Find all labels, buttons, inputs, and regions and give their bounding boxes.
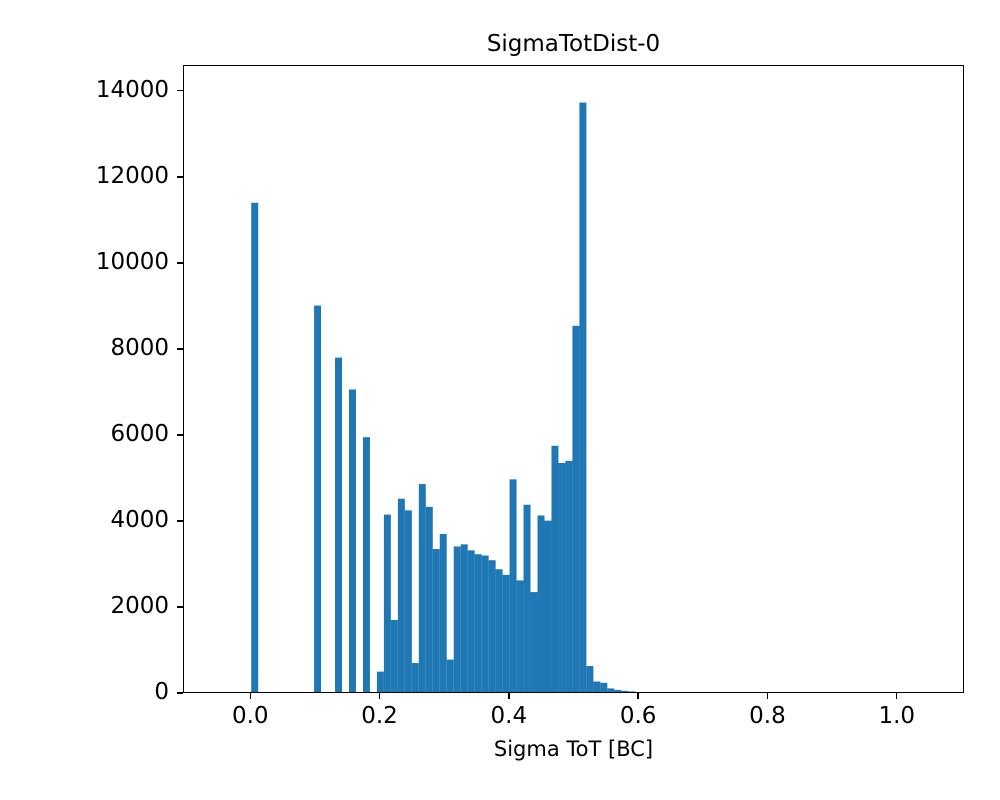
x-tick-label: 0.2 — [320, 701, 440, 731]
x-tick-label: 0.4 — [449, 701, 569, 731]
histogram-bar — [600, 683, 607, 692]
histogram-bar — [461, 544, 468, 692]
histogram-bar — [510, 479, 517, 692]
histogram-bar — [586, 666, 593, 692]
histogram-bar — [628, 691, 635, 692]
x-tick-label: 0.8 — [707, 701, 827, 731]
x-tick-mark — [379, 693, 380, 699]
y-tick-mark — [177, 692, 183, 693]
histogram-bar — [349, 389, 356, 692]
histogram-bar — [538, 515, 545, 692]
x-tick-label: 1.0 — [837, 701, 957, 731]
y-tick-label: 2000 — [19, 595, 169, 618]
x-axis-label: Sigma ToT [BC] — [183, 736, 964, 762]
y-tick-label: 14000 — [19, 79, 169, 102]
histogram-bar — [503, 575, 510, 692]
histogram-bar — [363, 437, 370, 692]
y-tick-mark — [177, 262, 183, 263]
y-tick-label: 4000 — [19, 509, 169, 532]
y-tick-label: 0 — [19, 681, 169, 704]
histogram-bar — [377, 672, 384, 692]
y-tick-label: 8000 — [19, 337, 169, 360]
histogram-bar — [335, 358, 342, 692]
histogram-bars — [184, 66, 963, 692]
page-title: SigmaTotDist-0 — [183, 30, 964, 58]
histogram-bar — [433, 549, 440, 692]
histogram-bar — [440, 534, 447, 692]
y-tick-label: 10000 — [19, 251, 169, 274]
histogram-bar — [593, 682, 600, 692]
histogram-bar — [558, 463, 565, 692]
histogram-bar — [579, 103, 586, 692]
histogram-bar — [384, 515, 391, 692]
y-tick-mark — [177, 520, 183, 521]
histogram-bar — [426, 507, 433, 692]
histogram-bar — [447, 660, 454, 692]
histogram-bar — [531, 592, 538, 692]
histogram-bar — [419, 484, 426, 692]
histogram-bar — [607, 688, 614, 692]
x-tick-mark — [508, 693, 509, 699]
histogram-bar — [524, 505, 531, 692]
histogram-bar — [251, 203, 258, 692]
y-tick-mark — [177, 348, 183, 349]
x-tick-label: 0.6 — [578, 701, 698, 731]
histogram-bar — [572, 326, 579, 692]
histogram-bar — [621, 691, 628, 692]
y-tick-mark — [177, 606, 183, 607]
x-tick-mark — [767, 693, 768, 699]
histogram-bar — [391, 620, 398, 692]
y-tick-label: 6000 — [19, 423, 169, 446]
histogram-bar — [517, 580, 524, 692]
matplotlib-figure: SigmaTotDist-0 0.00.20.40.60.81.0 020004… — [0, 0, 1000, 800]
histogram-bar — [475, 554, 482, 692]
histogram-bar — [565, 461, 572, 692]
histogram-bar — [398, 499, 405, 692]
y-tick-mark — [177, 434, 183, 435]
histogram-bar — [614, 690, 621, 692]
histogram-bar — [314, 306, 321, 692]
histogram-bar — [405, 510, 412, 692]
y-tick-mark — [177, 176, 183, 177]
histogram-bar — [468, 550, 475, 692]
y-tick-mark — [177, 90, 183, 91]
y-tick-label: 12000 — [19, 165, 169, 188]
histogram-bar — [489, 560, 496, 692]
histogram-bar — [545, 521, 552, 692]
x-tick-label: 0.0 — [190, 701, 310, 731]
histogram-bar — [482, 556, 489, 693]
histogram-plot-area — [184, 66, 963, 692]
x-tick-mark — [896, 693, 897, 699]
histogram-bar — [412, 663, 419, 692]
histogram-bar — [454, 546, 461, 692]
histogram-bar — [496, 569, 503, 692]
x-tick-mark — [250, 693, 251, 699]
histogram-bar — [551, 446, 558, 692]
plot-axes — [183, 65, 964, 693]
x-tick-mark — [637, 693, 638, 699]
